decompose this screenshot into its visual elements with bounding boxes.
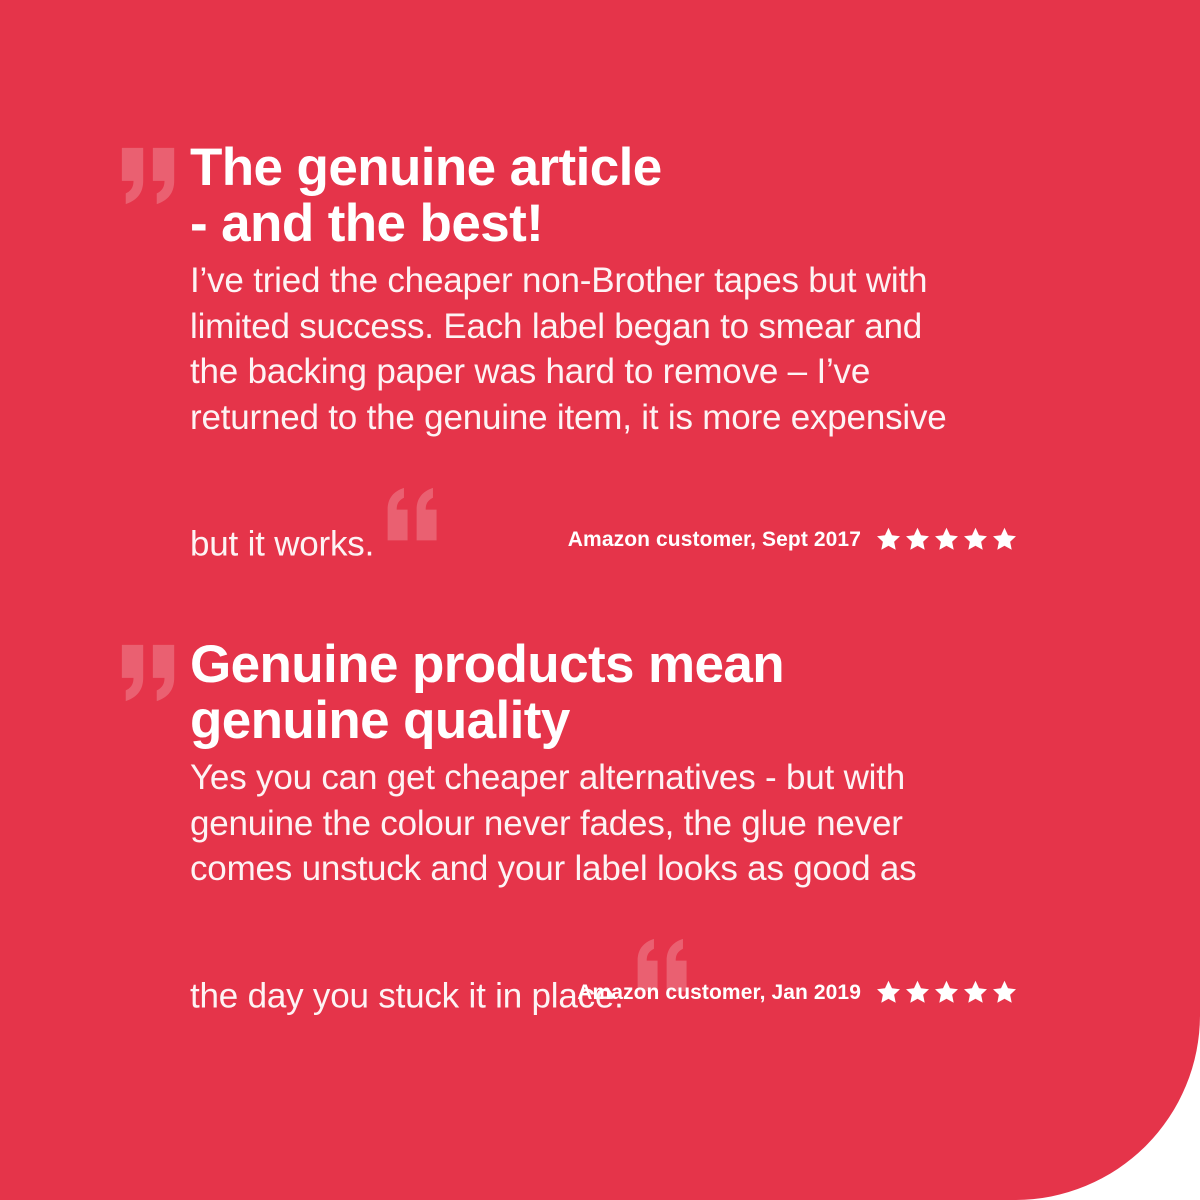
star-rating xyxy=(875,526,1018,553)
close-quote-icon xyxy=(384,440,442,498)
attribution-1: Amazon customer, Sept 2017 xyxy=(568,526,1018,553)
quote-row: The genuine article - and the best! I’ve… xyxy=(118,140,1018,567)
testimonial-block-2: Genuine products mean genuine quality Ye… xyxy=(118,637,1018,1019)
quote-row: Genuine products mean genuine quality Ye… xyxy=(118,637,1018,1019)
star-filled-icon xyxy=(904,526,931,553)
star-filled-icon xyxy=(875,526,902,553)
star-filled-icon xyxy=(933,979,960,1006)
star-rating xyxy=(875,979,1018,1006)
testimonial-body: Yes you can get cheaper alternatives - b… xyxy=(190,758,916,1015)
star-filled-icon xyxy=(962,526,989,553)
attribution-label: Amazon customer, Sept 2017 xyxy=(568,528,861,552)
star-filled-icon xyxy=(875,979,902,1006)
attribution-label: Amazon customer, Jan 2019 xyxy=(577,981,861,1005)
star-filled-icon xyxy=(904,979,931,1006)
open-quote-icon xyxy=(118,641,180,703)
open-quote-icon xyxy=(118,144,180,206)
close-quote-icon xyxy=(634,892,692,950)
star-filled-icon xyxy=(991,526,1018,553)
testimonials-content: The genuine article - and the best! I’ve… xyxy=(0,0,1200,1200)
star-filled-icon xyxy=(962,979,989,1006)
testimonial-card: The genuine article - and the best! I’ve… xyxy=(0,0,1200,1200)
attribution-2: Amazon customer, Jan 2019 xyxy=(577,979,1018,1006)
testimonial-headline: Genuine products mean genuine quality xyxy=(190,637,1018,749)
testimonial-headline: The genuine article - and the best! xyxy=(190,140,1018,252)
star-filled-icon xyxy=(933,526,960,553)
star-filled-icon xyxy=(991,979,1018,1006)
testimonial-body: I’ve tried the cheaper non-Brother tapes… xyxy=(190,261,947,564)
testimonial-body-wrapper: I’ve tried the cheaper non-Brother tapes… xyxy=(190,258,1018,567)
testimonial-block-1: The genuine article - and the best! I’ve… xyxy=(118,140,1018,567)
